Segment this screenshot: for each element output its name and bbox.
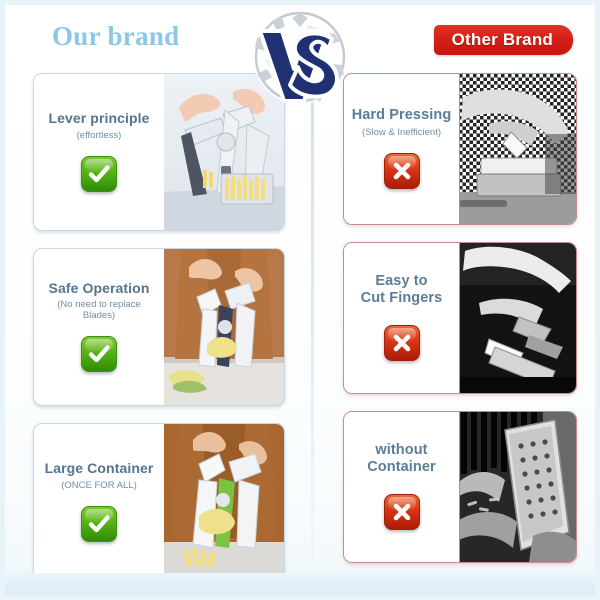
card-subtitle: (ONCE FOR ALL) — [61, 481, 137, 492]
product-photo — [459, 74, 576, 224]
product-photo — [164, 249, 284, 405]
other-brand-card-cut-fingers[interactable]: Easy toCut Fingers — [343, 242, 577, 394]
card-text: Lever principle (effortless) — [34, 74, 164, 230]
vs-icon — [246, 3, 354, 111]
card-title: Large Container — [45, 460, 154, 476]
check-icon — [81, 156, 117, 192]
other-brand-card-without-container[interactable]: withoutContainer — [343, 411, 577, 563]
other-brand-ribbon: Other Brand — [434, 25, 573, 55]
our-brand-column: Lever principle (effortless) — [33, 73, 285, 598]
product-photo — [459, 412, 576, 562]
card-title: Safe Operation — [49, 280, 150, 296]
card-text: Large Container (ONCE FOR ALL) — [34, 424, 164, 580]
our-brand-card-safe-operation[interactable]: Safe Operation (No need to replace Blade… — [33, 248, 285, 406]
other-brand-card-hard-pressing[interactable]: Hard Pressing (Slow & Inefficient) — [343, 73, 577, 225]
product-photo — [164, 424, 284, 580]
other-brand-column: Hard Pressing (Slow & Inefficient) — [343, 73, 577, 580]
card-text: Safe Operation (No need to replace Blade… — [34, 249, 164, 405]
card-text: Easy toCut Fingers — [344, 243, 459, 393]
card-title: withoutContainer — [367, 442, 436, 475]
check-icon — [81, 506, 117, 542]
card-subtitle: (Slow & Inefficient) — [362, 128, 441, 139]
header: Our brand Other Brand — [5, 5, 595, 67]
x-icon — [384, 153, 420, 189]
card-text: Hard Pressing (Slow & Inefficient) — [344, 74, 459, 224]
x-icon — [384, 494, 420, 530]
center-divider — [311, 67, 314, 565]
card-title: Hard Pressing — [352, 107, 452, 124]
our-brand-card-large-container[interactable]: Large Container (ONCE FOR ALL) — [33, 423, 285, 581]
comparison-infographic: Our brand Other Brand — [0, 0, 600, 600]
card-title: Easy toCut Fingers — [361, 273, 443, 306]
other-brand-banner: Other Brand — [434, 25, 573, 55]
check-icon — [81, 336, 117, 372]
card-subtitle: (No need to replace Blades) — [40, 300, 158, 322]
product-photo — [459, 243, 576, 393]
x-icon — [384, 325, 420, 361]
card-subtitle: (effortless) — [77, 131, 122, 142]
our-brand-title: Our brand — [52, 21, 180, 52]
other-brand-title: Other Brand — [452, 30, 553, 50]
card-text: withoutContainer — [344, 412, 459, 562]
card-title: Lever principle — [48, 110, 149, 126]
